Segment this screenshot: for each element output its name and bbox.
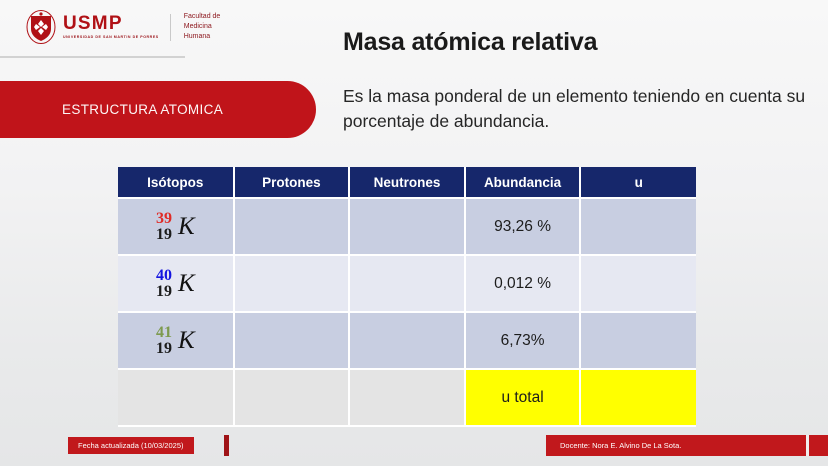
isotope-atomic-number: 19 xyxy=(156,284,172,300)
isotopes-table-container: Isótopos Protones Neutrones Abundancia u… xyxy=(118,167,696,427)
faculty-line-2: Medicina xyxy=(184,22,221,32)
isotope-mass-number: 39 xyxy=(156,211,172,227)
isotopes-table: Isótopos Protones Neutrones Abundancia u… xyxy=(118,167,696,427)
cell-protones xyxy=(234,255,350,312)
usmp-tagline: UNIVERSIDAD DE SAN MARTIN DE PORRES xyxy=(63,36,159,40)
cell-neutrones-total xyxy=(349,369,465,426)
section-banner: ESTRUCTURA ATOMICA xyxy=(0,81,316,138)
cell-u xyxy=(580,198,696,255)
footer-date-label: Fecha actualizada (10/03/2025) xyxy=(78,441,184,450)
cell-protones-total xyxy=(234,369,350,426)
cell-isotope: 40 19 K xyxy=(118,255,234,312)
footer-date-badge: Fecha actualizada (10/03/2025) xyxy=(68,437,194,454)
cell-u xyxy=(580,312,696,369)
faculty-line-3: Humana xyxy=(184,32,221,42)
usmp-logo: USMP UNIVERSIDAD DE SAN MARTIN DE PORRES… xyxy=(26,10,220,44)
cell-u-total-label: u total xyxy=(465,369,581,426)
footer-teacher-badge: Docente: Nora E. Alvino De La Sota. xyxy=(552,438,689,453)
usmp-shield-icon xyxy=(26,10,56,44)
page-subtitle: Es la masa ponderal de un elemento tenie… xyxy=(343,84,813,134)
usmp-acronym: USMP xyxy=(63,14,159,33)
section-banner-label: ESTRUCTURA ATOMICA xyxy=(62,102,223,117)
footer-left-accent-tab xyxy=(224,435,229,456)
isotope-symbol: K xyxy=(178,270,195,298)
cell-neutrones xyxy=(349,198,465,255)
cell-protones xyxy=(234,198,350,255)
column-header-isotopos: Isótopos xyxy=(118,167,234,198)
isotope-symbol: K xyxy=(178,327,195,355)
header-divider-rule xyxy=(0,56,185,58)
table-total-row: u total xyxy=(118,369,696,426)
cell-isotope-total xyxy=(118,369,234,426)
cell-u xyxy=(580,255,696,312)
cell-abundancia: 93,26 % xyxy=(465,198,581,255)
cell-isotope: 39 19 K xyxy=(118,198,234,255)
isotope-notation: 39 19 K xyxy=(156,211,195,243)
logo-divider xyxy=(170,14,171,41)
cell-abundancia: 6,73% xyxy=(465,312,581,369)
page-title: Masa atómica relativa xyxy=(343,28,597,57)
cell-abundancia: 0,012 % xyxy=(465,255,581,312)
faculty-name: Facultad de Medicina Humana xyxy=(184,12,221,42)
column-header-protones: Protones xyxy=(234,167,350,198)
table-row: 40 19 K 0,012 % xyxy=(118,255,696,312)
column-header-u: u xyxy=(580,167,696,198)
cell-isotope: 41 19 K xyxy=(118,312,234,369)
isotope-symbol: K xyxy=(178,213,195,241)
table-row: 39 19 K 93,26 % xyxy=(118,198,696,255)
cell-u-total-value xyxy=(580,369,696,426)
isotope-mass-number: 41 xyxy=(156,325,172,341)
footer-right-gap-divider xyxy=(806,435,809,456)
isotope-notation: 41 19 K xyxy=(156,325,195,357)
cell-protones xyxy=(234,312,350,369)
isotope-atomic-number: 19 xyxy=(156,227,172,243)
table-row: 41 19 K 6,73% xyxy=(118,312,696,369)
table-header-row: Isótopos Protones Neutrones Abundancia u xyxy=(118,167,696,198)
cell-neutrones xyxy=(349,312,465,369)
isotope-mass-number: 40 xyxy=(156,268,172,284)
isotope-notation: 40 19 K xyxy=(156,268,195,300)
column-header-abundancia: Abundancia xyxy=(465,167,581,198)
column-header-neutrones: Neutrones xyxy=(349,167,465,198)
isotope-atomic-number: 19 xyxy=(156,341,172,357)
cell-neutrones xyxy=(349,255,465,312)
faculty-line-1: Facultad de xyxy=(184,12,221,22)
footer-teacher-label: Docente: Nora E. Alvino De La Sota. xyxy=(560,441,681,450)
